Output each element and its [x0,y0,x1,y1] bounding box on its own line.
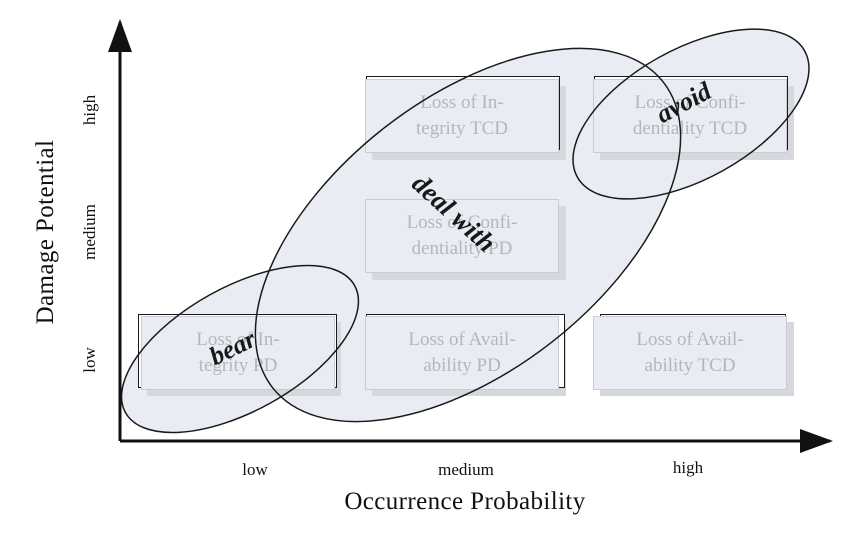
risk-box-label-line2: ability PD [423,353,501,379]
risk-matrix-diagram: Loss of In- tegrity TCD Loss of Confi- d… [0,0,855,537]
risk-box-label-line2: tegrity TCD [416,116,508,142]
risk-box-label-line1: Loss of Avail- [408,327,515,353]
risk-box-availability-pd[interactable]: Loss of Avail- ability PD [365,316,559,390]
risk-box-availability-tcd[interactable]: Loss of Avail- ability TCD [593,316,787,390]
risk-box-integrity-tcd[interactable]: Loss of In- tegrity TCD [365,79,559,153]
risk-box-label-line1: Loss of Avail- [636,327,743,353]
risk-box-label-line1: Loss of In- [420,90,503,116]
risk-box-label-line2: ability TCD [645,353,736,379]
risk-box-label-line2: dentiality TCD [633,116,747,142]
